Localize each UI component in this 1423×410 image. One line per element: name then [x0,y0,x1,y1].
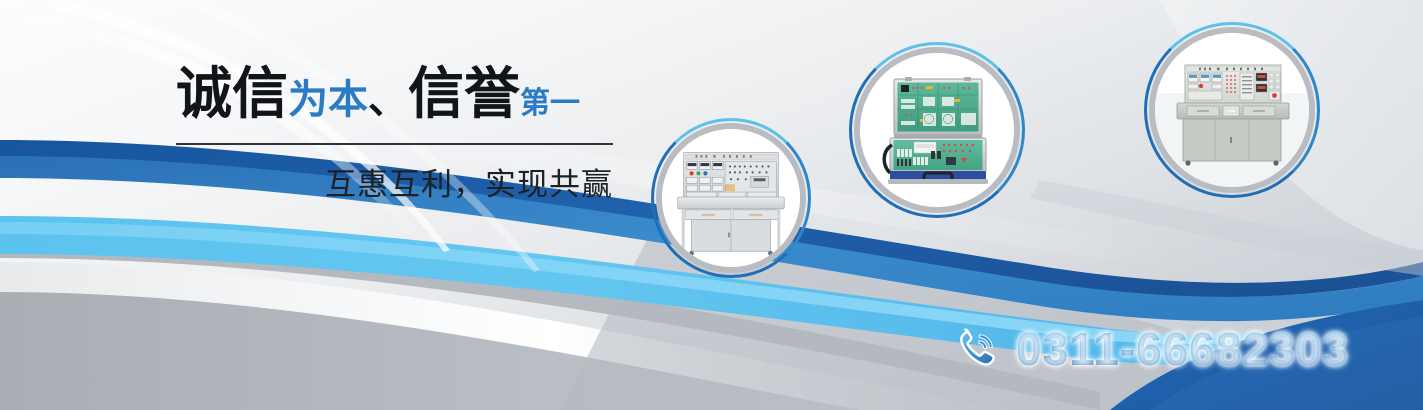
headline-part-2: 为本 [288,78,368,122]
product-circle-1[interactable] [651,118,811,278]
contact-block[interactable]: 0311-66682303 [954,322,1349,376]
headline-punctuation: 、 [368,78,408,122]
page-title: 诚信为本、信誉第一 [176,66,636,122]
headline-divider [176,143,613,145]
headline-part-3: 信誉 [408,62,520,125]
phone-icon [954,325,1002,373]
circle-ring-blue [651,118,811,278]
phone-number[interactable]: 0311-66682303 [1016,322,1349,376]
headline-part-1: 诚信 [176,62,288,125]
headline-block: 诚信为本、信誉第一 [176,66,636,122]
product-circle-2[interactable] [849,42,1025,218]
product-circle-3[interactable] [1144,22,1320,198]
subtitle: 互惠互利，实现共赢 [176,159,613,204]
circle-ring-blue [849,42,1025,218]
circle-ring-blue [1144,22,1320,198]
headline-part-4: 第一 [520,87,580,120]
promo-banner: 诚信为本、信誉第一 互惠互利，实现共赢 [0,0,1423,410]
